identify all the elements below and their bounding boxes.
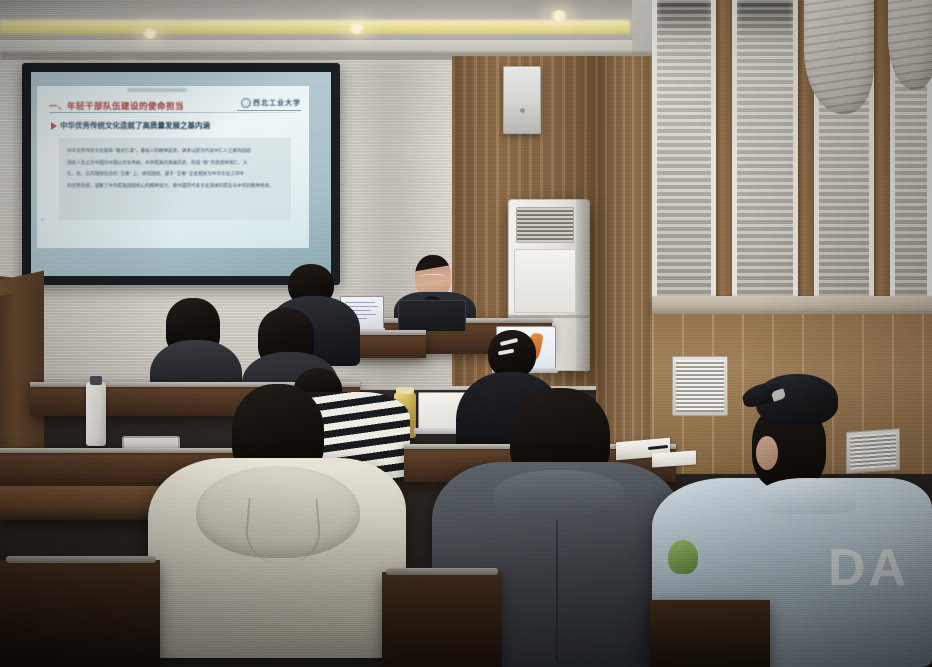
slide-bullet: 中华优秀传统文化造就了高质量发展之基内涵 xyxy=(51,120,210,131)
slide-body-line: 的优秀思想，凝聚了中华民族团结和心的精神动力，铸中国历代表文化演进的民生与中华的… xyxy=(67,180,283,192)
slide-body-line: 团结人生立志中国的中国以文化传统，中华民族的发展历史，形成 "德" 的思想体现仁… xyxy=(67,157,283,169)
attendee-head xyxy=(488,330,536,378)
jacket-collar xyxy=(760,478,856,514)
desk-edge xyxy=(0,448,252,453)
conference-room-photo: 一、年轻干部队伍建设的使命担当 西北工业大学 中华优秀传统文化造就了高质量发展之… xyxy=(0,0,932,667)
bench-foreground-right xyxy=(650,600,770,667)
thermos-bottle[interactable] xyxy=(86,382,106,446)
jacket-collar xyxy=(494,470,624,518)
slide-body-box: 中华优秀传统文化倡导 "敬天仁爱"，重视人的精神追求，讲求以民为代表中仁人之家的… xyxy=(59,138,291,220)
speaker-driver-icon xyxy=(520,108,525,113)
downlight-icon xyxy=(346,22,368,34)
bench-foreground-center xyxy=(382,572,502,667)
slide-topbar xyxy=(127,88,187,92)
glasses-icon xyxy=(419,274,447,281)
ac-front-panel xyxy=(514,249,576,313)
radiator-grille xyxy=(846,428,900,474)
logo-mark-icon xyxy=(241,98,251,108)
ac-vent-icon xyxy=(516,207,574,243)
window-pane xyxy=(652,0,716,300)
tumbler-lid xyxy=(396,387,414,394)
cove-light-strip xyxy=(0,20,630,34)
window-mullion xyxy=(716,0,732,310)
slide-title: 一、年轻干部队伍建设的使命担当 xyxy=(49,100,184,112)
bench-rail xyxy=(386,568,498,575)
slide-title-rule xyxy=(49,112,297,113)
bench-rail xyxy=(6,556,156,563)
window-sill xyxy=(652,296,932,316)
slide-page-number: 3 xyxy=(41,217,43,222)
presentation-slide: 一、年轻干部队伍建设的使命担当 西北工业大学 中华优秀传统文化造就了高质量发展之… xyxy=(37,86,309,248)
jacket-sleeve-patch xyxy=(668,540,698,574)
downlight-icon xyxy=(548,10,570,22)
chevron-right-icon xyxy=(51,122,57,130)
ac-side-shadow xyxy=(576,199,590,371)
jacket-back-text: DA xyxy=(828,538,909,598)
wall-speaker xyxy=(503,66,541,134)
laptop-presenter[interactable] xyxy=(398,300,466,332)
radiator-grille xyxy=(672,356,728,416)
window-pane xyxy=(732,0,798,300)
attendee-ear xyxy=(756,436,778,470)
thermos-cap xyxy=(90,376,102,385)
jacket-seam xyxy=(556,520,558,660)
slide-bullet-text: 中华优秀传统文化造就了高质量发展之基内涵 xyxy=(60,120,210,131)
logo-underline xyxy=(237,110,301,111)
downlight-icon xyxy=(140,28,160,39)
slide-body-line: 中华优秀传统文化倡导 "敬天仁爱"，重视人的精神追求，讲求以民为代表中仁人之家的… xyxy=(67,145,283,157)
bench-foreground-left xyxy=(0,560,160,667)
slide-body-line: 礼、智、信的理想信念的 "王者" 上，讲究团结、基于 "王者" 正反相关为中华文… xyxy=(67,168,283,180)
university-logo: 西北工业大学 xyxy=(241,98,301,108)
logo-text: 西北工业大学 xyxy=(253,98,301,108)
